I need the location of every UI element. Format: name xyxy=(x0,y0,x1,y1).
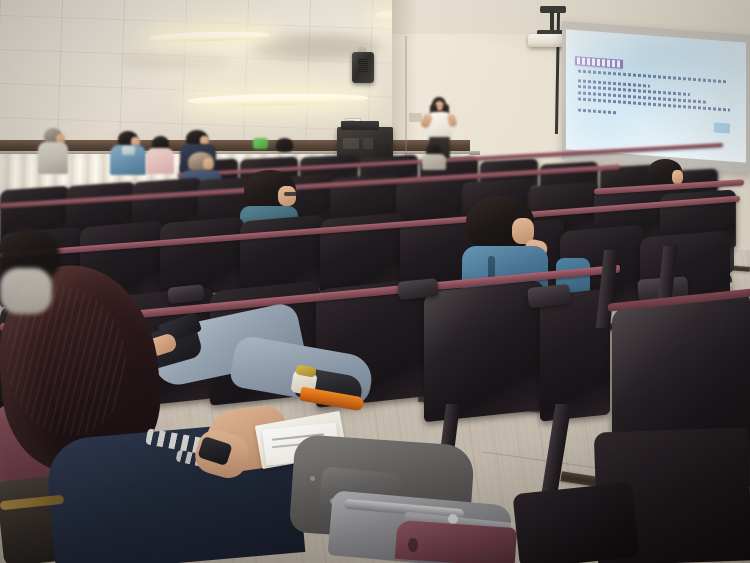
jacket-button xyxy=(310,476,315,481)
attendee-face-side xyxy=(278,186,296,206)
speaker-grille xyxy=(358,58,368,72)
projector-pole xyxy=(550,10,554,32)
laptop xyxy=(341,121,379,130)
attendee-face xyxy=(203,158,213,170)
attendee-torso xyxy=(422,154,446,170)
ceiling-stain xyxy=(120,52,230,70)
attendee-torso xyxy=(146,148,174,174)
door-plate xyxy=(409,113,422,122)
glasses-icon xyxy=(284,192,298,196)
attendee-collar xyxy=(122,146,135,155)
green-bag[interactable] xyxy=(253,138,268,149)
attendee-head xyxy=(276,138,293,152)
seat-hole xyxy=(408,538,418,552)
av-cart-panel xyxy=(343,138,359,149)
attendee-shoulder xyxy=(0,268,52,314)
seat-highlight xyxy=(424,280,544,423)
attendee-torso xyxy=(38,142,68,174)
sneaker-shadow xyxy=(290,400,376,412)
door-edge xyxy=(405,36,407,166)
attendee-neck xyxy=(672,170,683,184)
seat-base xyxy=(512,482,639,563)
lecture-hall-photo xyxy=(0,0,750,563)
